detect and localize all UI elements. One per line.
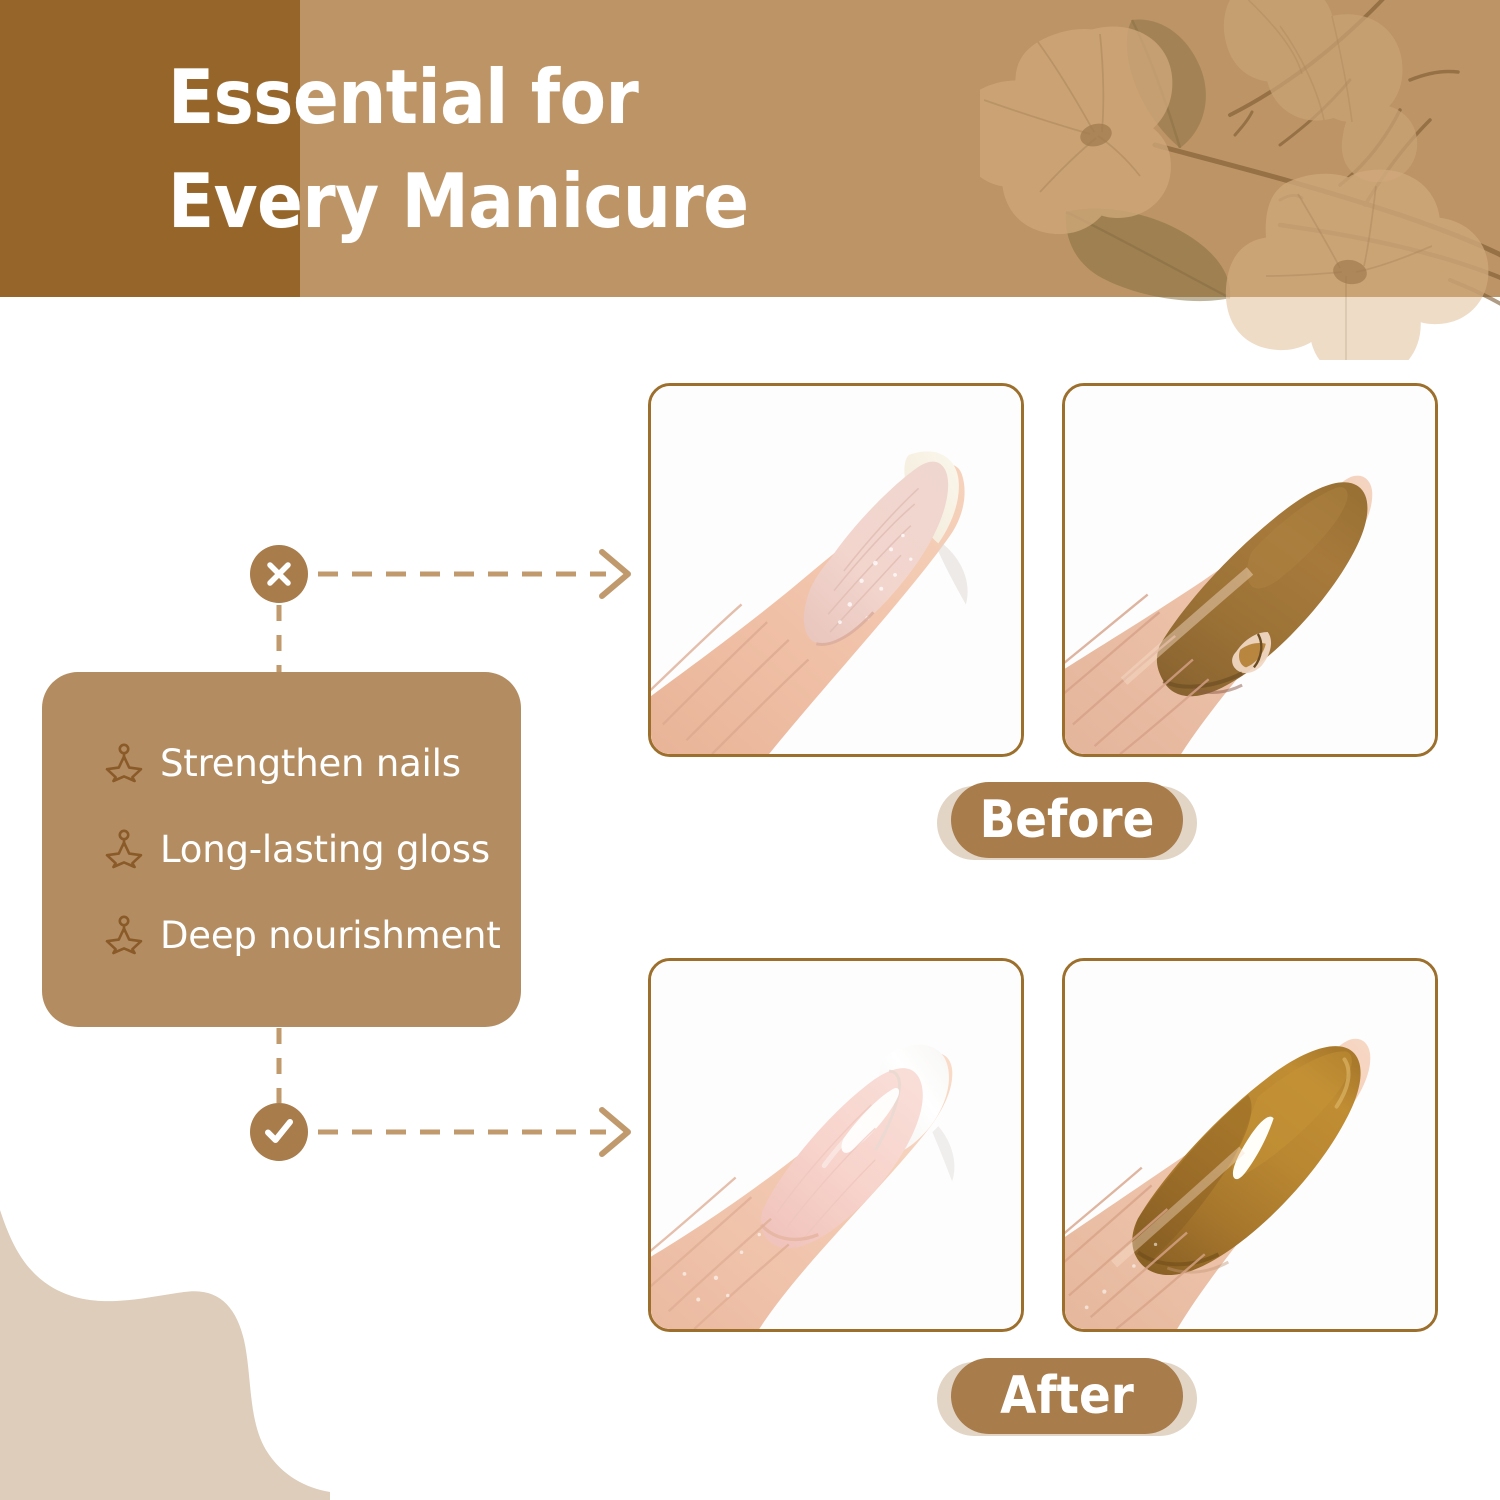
star-ornament-icon bbox=[104, 829, 144, 869]
photo-french-manicure-nail bbox=[648, 958, 1024, 1332]
benefit-item-gloss: Long-lasting gloss bbox=[42, 806, 521, 892]
benefit-label: Strengthen nails bbox=[160, 742, 461, 785]
cross-icon bbox=[264, 559, 294, 589]
infographic-page: Essential for Every Manicure bbox=[0, 0, 1500, 1500]
benefit-label: Long-lasting gloss bbox=[160, 828, 490, 871]
before-label-badge: Before bbox=[937, 782, 1197, 864]
benefit-item-nourishment: Deep nourishment bbox=[42, 892, 521, 978]
after-badge-label: After bbox=[1000, 1370, 1134, 1422]
cross-status-badge bbox=[250, 545, 308, 603]
benefit-label: Deep nourishment bbox=[160, 914, 501, 957]
after-label-badge: After bbox=[937, 1358, 1197, 1440]
page-title: Essential for Every Manicure bbox=[168, 46, 928, 253]
after-badge: After bbox=[951, 1358, 1183, 1434]
chevron-right-arrow-icon-top bbox=[602, 552, 628, 596]
photo-bare-damaged-nail bbox=[648, 383, 1024, 757]
benefit-item-strengthen: Strengthen nails bbox=[42, 720, 521, 806]
benefits-card: Strengthen nails Long-lasting gloss bbox=[42, 672, 521, 1027]
before-badge-label: Before bbox=[980, 794, 1155, 846]
star-ornament-icon bbox=[104, 743, 144, 783]
check-status-badge bbox=[250, 1103, 308, 1161]
check-icon bbox=[262, 1115, 296, 1149]
photo-chipped-brown-polish bbox=[1062, 383, 1438, 757]
chevron-right-arrow-icon-bottom bbox=[602, 1110, 628, 1154]
before-badge: Before bbox=[951, 782, 1183, 858]
photo-glossy-caramel-nail bbox=[1062, 958, 1438, 1332]
star-ornament-icon bbox=[104, 915, 144, 955]
bottom-left-wave-blob bbox=[0, 1210, 330, 1500]
